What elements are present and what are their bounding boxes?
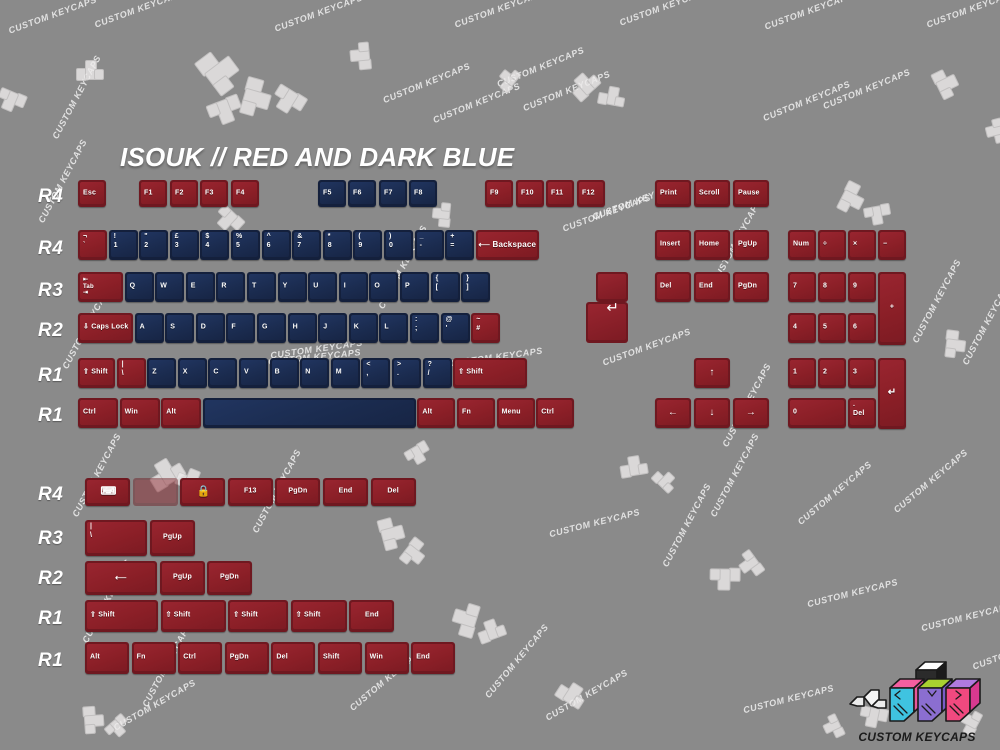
key-extra-del[interactable]: Del: [371, 478, 416, 506]
key-np-enter[interactable]: ↵: [878, 358, 906, 429]
keycap-legend: PgDn: [275, 488, 320, 497]
keycap-legend: V: [244, 369, 265, 378]
keycap-legend: +: [878, 304, 906, 313]
key-$4[interactable]: $ 4: [200, 230, 229, 260]
keycap-legend: End: [416, 654, 452, 663]
key-m-8[interactable]: M: [331, 358, 360, 388]
row-label-r3: R3: [38, 280, 63, 302]
key-extra2-alt[interactable]: Alt: [85, 642, 129, 674]
key-extra-shift-0[interactable]: ⇧ Shift: [85, 600, 158, 632]
keycap-legend: O: [374, 283, 395, 292]
key-w[interactable]: W: [155, 272, 184, 302]
key-{[[interactable]: { [: [431, 272, 460, 302]
key-ctrl[interactable]: Ctrl: [78, 398, 118, 428]
key-x-3[interactable]: X: [178, 358, 207, 388]
keycap-legend: Alt: [166, 409, 198, 418]
keycap-legend: 4: [793, 324, 813, 333]
key-i[interactable]: I: [339, 272, 368, 302]
keycap-legend: E: [191, 283, 212, 292]
key-pgdn[interactable]: PgDn: [733, 272, 769, 302]
key-extra-end[interactable]: End: [323, 478, 368, 506]
key-t[interactable]: T: [247, 272, 276, 302]
key-(9[interactable]: ( 9: [353, 230, 382, 260]
keycap-legend: F7: [384, 189, 404, 198]
key-:;[interactable]: : ;: [410, 313, 439, 343]
key-f9[interactable]: F9: [485, 180, 513, 207]
keycap-set-board: ISOUK // RED AND DARK BLUE EscF1F2F3F4F5…: [0, 0, 1000, 750]
key-home[interactable]: Home: [694, 230, 730, 260]
key-extra-shift-3[interactable]: ⇧ Shift: [291, 600, 347, 632]
keycap-legend: £ 3: [175, 233, 196, 251]
keycap-legend: I: [344, 283, 365, 292]
keycap-legend: M: [336, 369, 357, 378]
key-caps-lock[interactable]: ⇩ Caps Lock: [78, 313, 133, 343]
keycap-legend: Win: [125, 409, 157, 418]
keycap-legend: N: [305, 369, 326, 378]
key-f11[interactable]: F11: [546, 180, 574, 207]
key-alt[interactable]: Alt: [417, 398, 455, 428]
key-f10[interactable]: F10: [516, 180, 544, 207]
key-extra2-shift[interactable]: Shift: [318, 642, 362, 674]
keycap-legend: Esc: [83, 189, 103, 198]
keycap-legend: Scroll: [699, 189, 727, 198]
keycap-legend: Ctrl: [83, 409, 115, 418]
enter-top: [596, 272, 628, 302]
keycap-legend: Alt: [90, 654, 126, 663]
key-space[interactable]: [203, 398, 416, 428]
key-&7[interactable]: & 7: [292, 230, 321, 260]
keycap-legend: Y: [283, 283, 304, 292]
keycap-legend: F12: [582, 189, 602, 198]
keycap-legend: & 7: [297, 233, 318, 251]
key-_-[interactable]: _ -: [415, 230, 444, 260]
key-end[interactable]: End: [694, 272, 730, 302]
key-extra-pipe[interactable]: | \: [85, 520, 147, 556]
keycap-legend: ⌨: [90, 487, 127, 498]
keycap-legend: F4: [236, 189, 256, 198]
key-arrow-down[interactable]: ↓: [694, 398, 730, 428]
key-~#[interactable]: ~ #: [471, 313, 500, 343]
logo-label: CUSTOM KEYCAPS: [842, 730, 992, 744]
key-e[interactable]: E: [186, 272, 215, 302]
keycap-legend: { [: [436, 275, 457, 293]
key-f3[interactable]: F3: [200, 180, 228, 207]
keycap-legend: ! 1: [114, 233, 135, 251]
key-np-del[interactable]: . Del: [848, 398, 876, 428]
keycap-legend: PgDn: [207, 574, 252, 583]
keycap-legend: Ctrl: [183, 654, 219, 663]
key-extra-end-4[interactable]: End: [349, 600, 394, 632]
key-extra2-win[interactable]: Win: [365, 642, 409, 674]
key-extra2-pgdn[interactable]: PgDn: [225, 642, 269, 674]
key-c-4[interactable]: C: [208, 358, 237, 388]
keycap-face: [135, 480, 176, 503]
keycap-legend: F8: [414, 189, 434, 198]
key-arrow-up[interactable]: ↑: [694, 358, 730, 388]
keycap-legend: L: [384, 324, 405, 333]
keycap-legend: ⇧ Shift: [296, 612, 344, 621]
row-label-extra-r2: R2: [38, 568, 63, 590]
keycap-legend: H: [293, 324, 314, 333]
key-r[interactable]: R: [216, 272, 245, 302]
keycap-legend: Insert: [660, 241, 688, 250]
row-label-extra-r3: R3: [38, 528, 63, 550]
key-z-2[interactable]: Z: [147, 358, 176, 388]
enter-glyph: ↵: [606, 300, 619, 315]
keycap-legend: S: [170, 324, 191, 333]
key-n-7[interactable]: N: [300, 358, 329, 388]
keycap-legend: Del: [660, 283, 688, 292]
key-o[interactable]: O: [369, 272, 398, 302]
keycap-legend: ? /: [428, 361, 449, 379]
key-"2[interactable]: " 2: [139, 230, 168, 260]
keycap-legend: ↵: [878, 388, 906, 398]
keycap-legend: ( 9: [358, 233, 379, 251]
key-np-2[interactable]: 2: [818, 358, 846, 388]
keycap-face: [205, 400, 414, 425]
keycap-legend: J: [323, 324, 344, 333]
row-label-r4-fn: R4: [38, 186, 63, 208]
key-ctrl[interactable]: Ctrl: [536, 398, 574, 428]
key-f12[interactable]: F12: [577, 180, 605, 207]
key-!1[interactable]: ! 1: [109, 230, 138, 260]
keycap-legend: F5: [323, 189, 343, 198]
key-^6[interactable]: ^ 6: [262, 230, 291, 260]
key-h[interactable]: H: [288, 313, 317, 343]
key-*8[interactable]: * 8: [323, 230, 352, 260]
keycap-legend: ⇧ Shift: [166, 612, 223, 621]
keycap-legend: R: [221, 283, 242, 292]
keycap-legend: > .: [397, 361, 418, 379]
keycap-legend: ×: [853, 241, 873, 250]
key-extra-keycaps-icon[interactable]: ⌨: [85, 478, 130, 506]
keycap-legend: : ;: [415, 316, 436, 334]
key-np-−[interactable]: −: [878, 230, 906, 260]
keycap-legend: ^ 6: [267, 233, 288, 251]
key-extra-pgup[interactable]: PgUp: [150, 520, 195, 556]
key-f[interactable]: F: [226, 313, 255, 343]
keycap-legend: Q: [130, 283, 151, 292]
keycap-legend: F2: [175, 189, 195, 198]
keycap-legend: $ 4: [205, 233, 226, 251]
keycap-legend: Win: [370, 654, 406, 663]
keycap-legend: End: [323, 488, 368, 497]
keycap-legend: Ctrl: [541, 409, 571, 418]
key-win[interactable]: Win: [120, 398, 160, 428]
keycap-legend: K: [354, 324, 375, 333]
key-fn[interactable]: Fn: [457, 398, 495, 428]
key-extra-shift-2[interactable]: ⇧ Shift: [228, 600, 288, 632]
key-u[interactable]: U: [308, 272, 337, 302]
key-a[interactable]: A: [135, 313, 164, 343]
key-tab[interactable]: ⇤Tab⇥: [78, 272, 123, 302]
keycap-legend: 2: [823, 369, 843, 378]
keycap-legend: F3: [205, 189, 225, 198]
keycap-legend: . Del: [853, 401, 873, 419]
key-np-÷[interactable]: ÷: [818, 230, 846, 260]
keycap-legend: 9: [853, 283, 873, 292]
page-title: ISOUK // RED AND DARK BLUE: [120, 142, 514, 173]
keycap-legend: Menu: [502, 409, 532, 418]
keycap-legend: B: [275, 369, 296, 378]
keycap-legend: 6: [853, 324, 873, 333]
key-f8[interactable]: F8: [409, 180, 437, 207]
keycap-legend: ⟵: [85, 573, 157, 583]
row-label-r2: R2: [38, 320, 63, 342]
key-v-5[interactable]: V: [239, 358, 268, 388]
keycap-legend: ) 0: [389, 233, 410, 251]
key-extra-pgup2[interactable]: PgUp: [160, 561, 205, 595]
keycap-legend: | \: [90, 523, 144, 541]
keycap-legend: 0: [793, 409, 843, 418]
key-extra-enter[interactable]: ⟵: [85, 561, 157, 595]
keycap-legend: C: [213, 369, 234, 378]
keycap-legend: Alt: [422, 409, 452, 418]
keycap-legend: 3: [853, 369, 873, 378]
key-extra2-ctrl[interactable]: Ctrl: [178, 642, 222, 674]
key-np-4[interactable]: 4: [788, 313, 816, 343]
keycap-legend: PgUp: [150, 534, 195, 543]
row-label-extra-r1a: R1: [38, 608, 63, 630]
logo-keycaps-icon: [842, 660, 992, 730]
keycap-legend: A: [140, 324, 161, 333]
key-}][interactable]: } ]: [461, 272, 490, 302]
key-np-7[interactable]: 7: [788, 272, 816, 302]
key-shift-0[interactable]: ⇧ Shift: [78, 358, 115, 388]
custom-keycaps-logo: CUSTOM KEYCAPS: [842, 660, 992, 744]
keycap-legend: ⇩ Caps Lock: [83, 324, 130, 333]
keycap-legend: D: [201, 324, 222, 333]
key-extra2-del[interactable]: Del: [271, 642, 315, 674]
row-label-r1-bottom: R1: [38, 405, 63, 427]
key-print[interactable]: Print: [655, 180, 691, 207]
keycap-legend: ↑: [694, 368, 730, 378]
keycap-legend: Shift: [323, 654, 359, 663]
keycap-legend: W: [160, 283, 181, 292]
key-scroll[interactable]: Scroll: [694, 180, 730, 207]
key-¬`[interactable]: ¬ `: [78, 230, 107, 260]
keycap-legend: F10: [521, 189, 541, 198]
keycap-legend: ⇤Tab⇥: [83, 277, 120, 297]
key-<,-9[interactable]: < ,: [361, 358, 390, 388]
key-np-0[interactable]: 0: [788, 398, 846, 428]
keycap-legend: End: [699, 283, 727, 292]
keycap-legend: ⇧ Shift: [458, 369, 524, 378]
key-pgup[interactable]: PgUp: [733, 230, 769, 260]
keycap-legend: G: [262, 324, 283, 333]
key-np-×[interactable]: ×: [848, 230, 876, 260]
key-j[interactable]: J: [318, 313, 347, 343]
key-s[interactable]: S: [165, 313, 194, 343]
key-f2[interactable]: F2: [170, 180, 198, 207]
key-extra-pgdn[interactable]: PgDn: [275, 478, 320, 506]
keycap-legend: 7: [793, 283, 813, 292]
key-extra2-fn[interactable]: Fn: [132, 642, 176, 674]
keycap-legend: Num: [793, 241, 813, 250]
keycap-legend: 🔒: [185, 487, 222, 498]
keycap-legend: " 2: [144, 233, 165, 251]
keycap-legend: PgUp: [160, 574, 205, 583]
row-label-extra-r4: R4: [38, 484, 63, 506]
row-label-extra-r1b: R1: [38, 650, 63, 672]
keycap-legend: @ ': [446, 316, 467, 334]
key-menu[interactable]: Menu: [497, 398, 535, 428]
keycap-legend: ↓: [694, 408, 730, 418]
keycap-legend: Del: [371, 488, 416, 497]
key-f5[interactable]: F5: [318, 180, 346, 207]
keycap-legend: Print: [660, 189, 688, 198]
key-d[interactable]: D: [196, 313, 225, 343]
key-extra2-end[interactable]: End: [411, 642, 455, 674]
key-p[interactable]: P: [400, 272, 429, 302]
key-f7[interactable]: F7: [379, 180, 407, 207]
keycap-legend: ⇧ Shift: [233, 612, 285, 621]
keycap-legend: F13: [228, 488, 273, 497]
keycap-legend: % 5: [236, 233, 257, 251]
key-np-8[interactable]: 8: [818, 272, 846, 302]
keycap-legend: U: [313, 283, 334, 292]
key-f4[interactable]: F4: [231, 180, 259, 207]
key-?/-11[interactable]: ? /: [423, 358, 452, 388]
keycap-legend: Z: [152, 369, 173, 378]
key-alt[interactable]: Alt: [161, 398, 201, 428]
key-shift-12[interactable]: ⇧ Shift: [453, 358, 527, 388]
keycap-legend: _ -: [420, 233, 441, 251]
keycap-legend: Pause: [738, 189, 766, 198]
key-extra-blank-icon[interactable]: [133, 478, 178, 506]
keycap-legend: PgUp: [738, 241, 766, 250]
keycap-legend: + =: [450, 233, 471, 251]
key-|\-1[interactable]: | \: [117, 358, 146, 388]
row-label-r1-shift: R1: [38, 365, 63, 387]
keycap-legend: PgDn: [230, 654, 266, 663]
keycap-legend: X: [183, 369, 204, 378]
keycap-legend: * 8: [328, 233, 349, 251]
keycap-legend: F1: [144, 189, 164, 198]
keycap-legend: F9: [490, 189, 510, 198]
key-pause[interactable]: Pause: [733, 180, 769, 207]
keycap-legend: →: [733, 408, 769, 418]
keycap-legend: ←: [655, 408, 691, 418]
keycap-legend: ÷: [823, 241, 843, 250]
keycap-legend: F: [231, 324, 252, 333]
keycap-legend: 1: [793, 369, 813, 378]
key-np-1[interactable]: 1: [788, 358, 816, 388]
keycap-legend: ⟵ Backspace: [476, 240, 539, 250]
keycap-legend: F6: [353, 189, 373, 198]
key-k[interactable]: K: [349, 313, 378, 343]
key-@'[interactable]: @ ': [441, 313, 470, 343]
keycap-legend: T: [252, 283, 273, 292]
keycap-legend: } ]: [466, 275, 487, 293]
key-extra-f13[interactable]: F13: [228, 478, 273, 506]
key-b-6[interactable]: B: [270, 358, 299, 388]
keycap-legend: End: [349, 612, 394, 621]
key-)0[interactable]: ) 0: [384, 230, 413, 260]
key-arrow-left[interactable]: ←: [655, 398, 691, 428]
row-label-r4-num: R4: [38, 238, 63, 260]
keycap-legend: 5: [823, 324, 843, 333]
key-np-6[interactable]: 6: [848, 313, 876, 343]
key-extra-lock-icon[interactable]: 🔒: [180, 478, 225, 506]
key-extra-pgdn[interactable]: PgDn: [207, 561, 252, 595]
key-f6[interactable]: F6: [348, 180, 376, 207]
key-insert[interactable]: Insert: [655, 230, 691, 260]
keycap-legend: Fn: [462, 409, 492, 418]
key-l[interactable]: L: [379, 313, 408, 343]
keycap-legend: ⇧ Shift: [90, 612, 155, 621]
keycap-legend: PgDn: [738, 283, 766, 292]
key-np-plus[interactable]: +: [878, 272, 906, 345]
key-%5[interactable]: % 5: [231, 230, 260, 260]
keycap-legend: F11: [551, 189, 571, 198]
keycap-legend: Fn: [137, 654, 173, 663]
key-np-Num[interactable]: Num: [788, 230, 816, 260]
keycap-legend: | \: [122, 361, 143, 379]
key-arrow-right[interactable]: →: [733, 398, 769, 428]
key-+=[interactable]: + =: [445, 230, 474, 260]
key->.-10[interactable]: > .: [392, 358, 421, 388]
key-np-5[interactable]: 5: [818, 313, 846, 343]
keycap-legend: 8: [823, 283, 843, 292]
key-iso-enter[interactable]: ↵: [586, 272, 628, 343]
keycap-legend: < ,: [366, 361, 387, 379]
key-g[interactable]: G: [257, 313, 286, 343]
key-£3[interactable]: £ 3: [170, 230, 199, 260]
keycap-legend: ⇧ Shift: [83, 369, 112, 378]
keycap-legend: P: [405, 283, 426, 292]
key-np-9[interactable]: 9: [848, 272, 876, 302]
key-y[interactable]: Y: [278, 272, 307, 302]
key-extra-shift-1[interactable]: ⇧ Shift: [161, 600, 226, 632]
keycap-legend: −: [883, 241, 903, 250]
key-np-3[interactable]: 3: [848, 358, 876, 388]
key-q[interactable]: Q: [125, 272, 154, 302]
keycap-legend: ~ #: [476, 316, 497, 334]
keycap-legend: ¬ `: [83, 233, 104, 251]
key-f1[interactable]: F1: [139, 180, 167, 207]
keycap-legend: Del: [276, 654, 312, 663]
key-⟵-backspace[interactable]: ⟵ Backspace: [476, 230, 539, 260]
key-esc[interactable]: Esc: [78, 180, 106, 207]
key-del[interactable]: Del: [655, 272, 691, 302]
keycap-legend: Home: [699, 241, 727, 250]
